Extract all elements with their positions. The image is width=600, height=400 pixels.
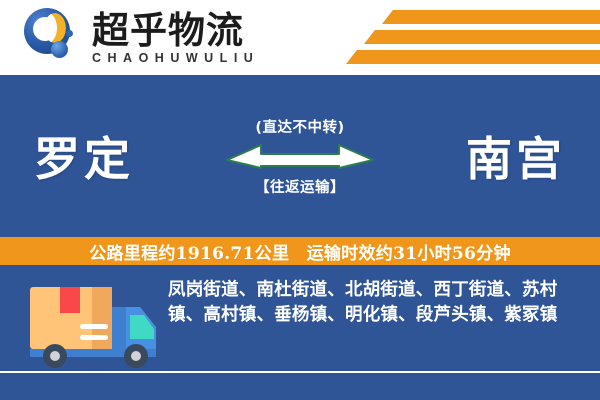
destination-list-text: 凤岗街道、南杜街道、北胡街道、西丁街道、苏村镇、高村镇、垂杨镇、明化镇、段芦头镇… (168, 278, 586, 328)
stripe-3 (346, 50, 600, 64)
route-row: 罗定 (直达不中转) 【往返运输】 南宫 (0, 75, 600, 237)
distance-duration-bar: 公路里程约1916.71公里 运输时效约31小时56分钟 (0, 237, 600, 265)
header: 超乎物流 CHAOHUWULIU (0, 0, 600, 75)
destination-city: 南宫 (466, 123, 566, 189)
logistics-route-banner: 超乎物流 CHAOHUWULIU 罗定 (直达不中转) 【往返运输】 南宫 (0, 0, 600, 400)
company-logo: 超乎物流 CHAOHUWULIU (22, 6, 259, 70)
route-panel: 罗定 (直达不中转) 【往返运输】 南宫 (0, 75, 600, 237)
direct-service-label: (直达不中转) (255, 116, 344, 137)
stripe-1 (382, 10, 600, 24)
delivery-truck-icon (22, 277, 162, 377)
circular-q-logo-icon (22, 6, 86, 70)
bidirectional-arrow-icon (225, 141, 375, 171)
origin-city: 罗定 (34, 123, 134, 189)
round-trip-label: 【往返运输】 (255, 176, 345, 197)
logo-dot-small-icon (66, 30, 73, 37)
destinations-panel: 凤岗街道、南杜街道、北胡街道、西丁街道、苏村镇、高村镇、垂杨镇、明化镇、段芦头镇… (0, 265, 600, 400)
route-middle-group: (直达不中转) 【往返运输】 (213, 96, 388, 216)
company-name-cn: 超乎物流 (92, 11, 259, 50)
logo-wordmark: 超乎物流 CHAOHUWULIU (92, 11, 259, 66)
bottom-divider (0, 371, 600, 373)
orange-speed-stripes-icon (330, 8, 600, 68)
logo-crescent-icon (44, 13, 66, 43)
logo-dot-large-icon (51, 41, 68, 58)
company-name-pinyin: CHAOHUWULIU (92, 51, 259, 65)
distance-duration-text: 公路里程约1916.71公里 运输时效约31小时56分钟 (89, 239, 511, 264)
stripe-2 (364, 30, 600, 44)
